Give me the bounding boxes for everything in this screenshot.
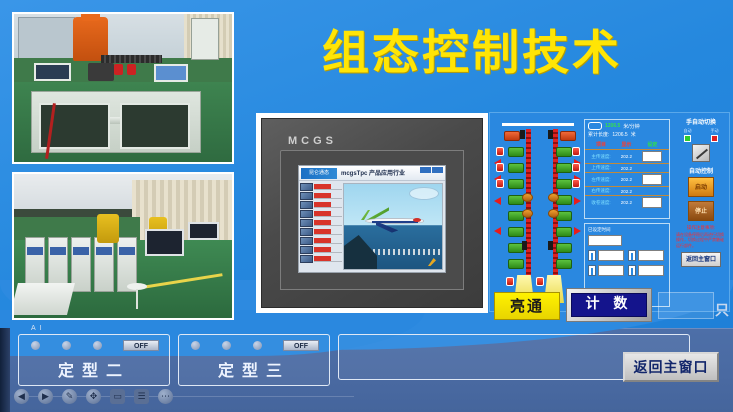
lamp-label-manual: 手动 [711, 128, 719, 134]
hmi-image-badge [409, 187, 439, 200]
hmi-menu-label [314, 202, 342, 208]
hmi-screen[interactable]: 昆仑通态 mcgsTpc 产品应用行业 [298, 165, 446, 273]
conveyor-block [556, 147, 572, 157]
setting-cell[interactable] [628, 265, 664, 276]
data-readout-panel: 1206.5 米/分钟 累计长度: 1206.5 米 项目 显示 设定 [584, 119, 670, 219]
table-row: 收卷速度: 202.2 [585, 196, 669, 210]
parameter-table: 项目 显示 设定 主传速度: 202.2 上传速度: 202.2 [585, 140, 669, 209]
slide-canvas: 组态控制技术 [0, 0, 733, 412]
table-row: 右传速度: 202.2 [585, 187, 669, 196]
count-button[interactable]: 计 数 [566, 288, 652, 322]
pointer-icon[interactable]: ✥ [86, 389, 101, 404]
hmi-menu-item[interactable] [300, 219, 342, 227]
stop-button[interactable]: 停止 [688, 201, 714, 221]
hmi-inner-frame: 昆仑通态 mcgsTpc 产品应用行业 [280, 150, 464, 290]
conveyor-block [556, 259, 572, 269]
column-header-display: 显示 [617, 140, 636, 150]
auto-control-label: 自动控制 [674, 166, 728, 175]
status-lamp [572, 163, 580, 172]
thumbnail-icon [300, 183, 313, 191]
hmi-menu-label [314, 247, 342, 253]
setting-main-input[interactable] [588, 235, 622, 246]
status-lamp [536, 277, 544, 286]
setting-input[interactable] [638, 265, 664, 276]
hmi-menu-item[interactable] [300, 201, 342, 209]
photo-cable-chain [101, 55, 162, 62]
page-title: 组态控制技术 [272, 22, 672, 84]
conveyor-block [556, 163, 572, 173]
more-icon[interactable]: ⋯ [158, 389, 173, 404]
photo-window [18, 17, 75, 61]
panel-indicator-dots [31, 341, 102, 350]
hmi-menu-label [314, 184, 342, 190]
conveyor-sensor [548, 241, 553, 250]
photo-stool [127, 283, 147, 309]
photo-hmi-right [154, 64, 189, 82]
status-lamp [572, 179, 580, 188]
indicator-dot [31, 341, 40, 350]
hmi-header-button[interactable] [420, 167, 431, 173]
param-display: 202.2 [617, 187, 636, 196]
return-main-window-button-bottom[interactable]: 返回主窗口 [623, 352, 719, 382]
photo-production-line-laboratory [12, 172, 234, 320]
hmi-image-city [373, 249, 442, 256]
photo-control-cabinet [191, 18, 219, 59]
conveyor-sensor [522, 241, 527, 250]
rotary-switch[interactable] [692, 144, 710, 162]
status-lamp [496, 179, 504, 188]
flow-arrow-right [574, 197, 581, 205]
thumbnail-icon [300, 255, 313, 263]
play-icon[interactable]: ▶ [38, 389, 53, 404]
indicator-dot [62, 341, 71, 350]
roller-icon [522, 193, 533, 202]
conveyor-block [508, 227, 524, 237]
mcgs-brand-logo: MCGS [288, 135, 337, 147]
panel-state-badge: OFF [123, 340, 159, 351]
conveyor-block [556, 243, 572, 253]
hmi-menu-label [314, 229, 342, 235]
center-align-icon [628, 250, 636, 261]
thumbnail-icon [300, 219, 313, 227]
table-header-row: 项目 显示 设定 [585, 140, 669, 150]
pen-icon [428, 258, 436, 266]
panel-dingxing-2[interactable]: AI OFF 定型二 [18, 334, 170, 386]
hmi-menu-item[interactable] [300, 237, 342, 245]
param-display: 202.2 [617, 150, 636, 164]
lamp-manual-red [711, 135, 718, 142]
param-display: 202.2 [617, 173, 636, 187]
start-button[interactable]: 启动 [688, 177, 714, 197]
hmi-menu-label [314, 256, 342, 262]
param-name: 主传速度: [585, 150, 617, 164]
param-set-cell [636, 164, 669, 173]
param-set-cell [636, 187, 669, 196]
bottom-align-icon [588, 265, 596, 276]
table-row: 主传速度: 202.2 [585, 150, 669, 164]
photo-content [14, 14, 232, 162]
param-set-cell[interactable] [636, 173, 669, 187]
hmi-screen-title: mcgsTpc 产品应用行业 [341, 168, 405, 177]
comment-icon[interactable]: ☰ [134, 389, 149, 404]
thumbnail-icon [300, 237, 313, 245]
param-name: 左传速度: [585, 173, 617, 187]
thumbnail-icon [300, 246, 313, 254]
hmi-menu-item[interactable] [300, 228, 342, 236]
conveyor-sensor [548, 130, 553, 139]
param-name: 收卷速度: [585, 196, 617, 210]
airplane-illustration [360, 206, 427, 235]
flow-arrow-left [494, 197, 501, 205]
setting-row [588, 265, 666, 276]
photo-station [94, 237, 114, 292]
hmi-menu-item[interactable] [300, 255, 342, 263]
total-unit: 米 [631, 131, 636, 138]
hmi-menu-item[interactable] [300, 210, 342, 218]
hmi-screen-body [299, 181, 445, 272]
conveyor-block [508, 163, 524, 173]
photo-monitor-2 [188, 222, 219, 241]
indicator-lamps [674, 135, 728, 142]
hmi-bezel: MCGS 昆仑通态 mcgsTpc 产品应用行业 [261, 118, 483, 308]
param-set-cell[interactable] [636, 150, 669, 164]
return-main-window-button[interactable]: 返回主窗口 [681, 252, 721, 267]
total-value: 1206.5 [612, 132, 627, 138]
photo-hmi-left [34, 63, 71, 81]
hmi-menu-item[interactable] [300, 192, 342, 200]
bottom-toolbar[interactable]: ◀ ▶ ✎ ✥ ▭ ☰ ⋯ [14, 389, 173, 404]
conveyor-block [556, 227, 572, 237]
left-dark-edge [0, 328, 10, 412]
setting-row [588, 250, 666, 261]
photo-desk [12, 283, 75, 315]
total-label: 累计长度: [588, 131, 609, 138]
photo-cabinet-door-right [120, 103, 191, 149]
thumbnail-icon [300, 201, 313, 209]
conveyor-top-bar [502, 123, 574, 126]
set-input[interactable] [642, 197, 662, 208]
right-align-icon [628, 265, 636, 276]
set-input[interactable] [642, 174, 662, 185]
count-button-label: 计 数 [571, 293, 647, 317]
table-row: 上传速度: 202.2 [585, 164, 669, 173]
flow-arrow-right [574, 227, 581, 235]
column-header-item: 项目 [585, 140, 617, 150]
conveyor-diagram [494, 117, 582, 307]
panel-dingxing-3[interactable]: OFF 定型三 [178, 334, 330, 386]
hmi-menu-label [314, 238, 342, 244]
conveyor-block [508, 147, 524, 157]
photo-robot-yellow-1 [97, 214, 119, 243]
manual-auto-label: 手自动切换 [674, 117, 728, 126]
param-name: 上传速度: [585, 164, 617, 173]
panel-title: 定型二 [19, 357, 169, 381]
hmi-header-button[interactable] [432, 167, 443, 173]
setting-input[interactable] [638, 250, 664, 261]
lamp-label-auto: 自动 [684, 128, 692, 134]
set-input[interactable] [642, 151, 662, 162]
photo-black-module [88, 63, 114, 81]
panel-state-badge: OFF [283, 340, 319, 351]
scada-right-column: 手自动切换 自动 手动 自动控制 启动 停止 操作注意事项: 请在设备停稳后再进… [674, 117, 728, 309]
conveyor-block [560, 131, 576, 141]
hmi-device: MCGS 昆仑通态 mcgsTpc 产品应用行业 [256, 113, 488, 313]
param-name: 右传速度: [585, 187, 617, 196]
conveyor-block [508, 259, 524, 269]
hmi-menu-item[interactable] [300, 183, 342, 191]
hmi-menu-label [314, 220, 342, 226]
status-lamp [496, 147, 504, 156]
roller-icon [548, 193, 559, 202]
warning-text: 请在设备停稳后再进行切换操作，切换过程中严禁触碰运行部件。 [674, 231, 728, 249]
counter-row: 1206.5 米/分钟 [585, 120, 669, 130]
conveyor-block [504, 131, 520, 141]
panel-title: 定型三 [179, 357, 329, 381]
setting-input[interactable] [598, 250, 624, 261]
param-set-cell[interactable] [636, 196, 669, 210]
param-display: 202.2 [617, 196, 636, 210]
status-lamp [572, 147, 580, 156]
setting-cell[interactable] [588, 265, 624, 276]
photo-red-marker-2 [127, 64, 136, 74]
column-header-set: 设定 [636, 140, 669, 150]
hmi-screen-header: 昆仑通态 mcgsTpc 产品应用行业 [299, 166, 445, 181]
panel-indicator-dots [191, 341, 262, 350]
status-lamp [496, 163, 504, 172]
indicator-dot [191, 341, 200, 350]
hmi-menu-item[interactable] [300, 246, 342, 254]
status-lamp [506, 277, 514, 286]
conveyor-block [508, 179, 524, 189]
photo-monitor-1 [145, 229, 184, 256]
pen-icon[interactable]: ✎ [62, 389, 77, 404]
hmi-vendor-logo: 昆仑通态 [301, 168, 337, 179]
thumbnail-icon [300, 192, 313, 200]
hmi-menu-label [314, 193, 342, 199]
liangtong-button[interactable]: 亮通 [494, 292, 560, 320]
param-display: 202.2 [617, 164, 636, 173]
photo-red-marker-1 [114, 64, 123, 74]
screen-icon[interactable]: ▭ [110, 389, 125, 404]
hmi-image-hill [344, 235, 377, 269]
counter-value: 1206.5 [605, 123, 620, 129]
indicator-dot [93, 341, 102, 350]
photo-content [14, 174, 232, 318]
table-row: 左传速度: 202.2 [585, 173, 669, 187]
count-button-shadow-panel [658, 292, 714, 319]
total-row: 累计长度: 1206.5 米 [585, 130, 669, 140]
conveyor-block [556, 179, 572, 189]
counter-unit: 米/分钟 [623, 123, 639, 130]
photo-workbench-cabinet [31, 91, 201, 153]
scada-control-panel: 1206.5 米/分钟 累计长度: 1206.5 米 项目 显示 设定 [489, 112, 730, 312]
flow-arrow-left [494, 227, 501, 235]
conveyor-sensor [520, 130, 525, 139]
hmi-menu-label [314, 211, 342, 217]
thumbnail-icon [300, 228, 313, 236]
setting-panel-title: 已设定时间 [588, 227, 666, 233]
lamp-auto-green [684, 135, 691, 142]
previous-icon[interactable]: ◀ [14, 389, 29, 404]
left-align-icon [588, 250, 596, 261]
lamp-labels: 自动 手动 [674, 128, 728, 134]
indicator-dot [253, 341, 262, 350]
setting-input[interactable] [598, 265, 624, 276]
photo-industrial-robot-training-station [12, 12, 234, 164]
display-icon [588, 122, 602, 130]
thumbnail-icon [300, 210, 313, 218]
hmi-screen-menu[interactable] [299, 181, 343, 272]
indicator-dot [222, 341, 231, 350]
hmi-screen-buttons[interactable] [420, 167, 443, 173]
hmi-screen-image [343, 183, 443, 270]
panel-small-label: AI [31, 325, 46, 332]
roller-icon [548, 209, 559, 218]
setting-cell[interactable] [588, 250, 624, 261]
corner-character: 只 [715, 300, 729, 320]
roller-icon [522, 209, 533, 218]
setting-cell[interactable] [628, 250, 664, 261]
